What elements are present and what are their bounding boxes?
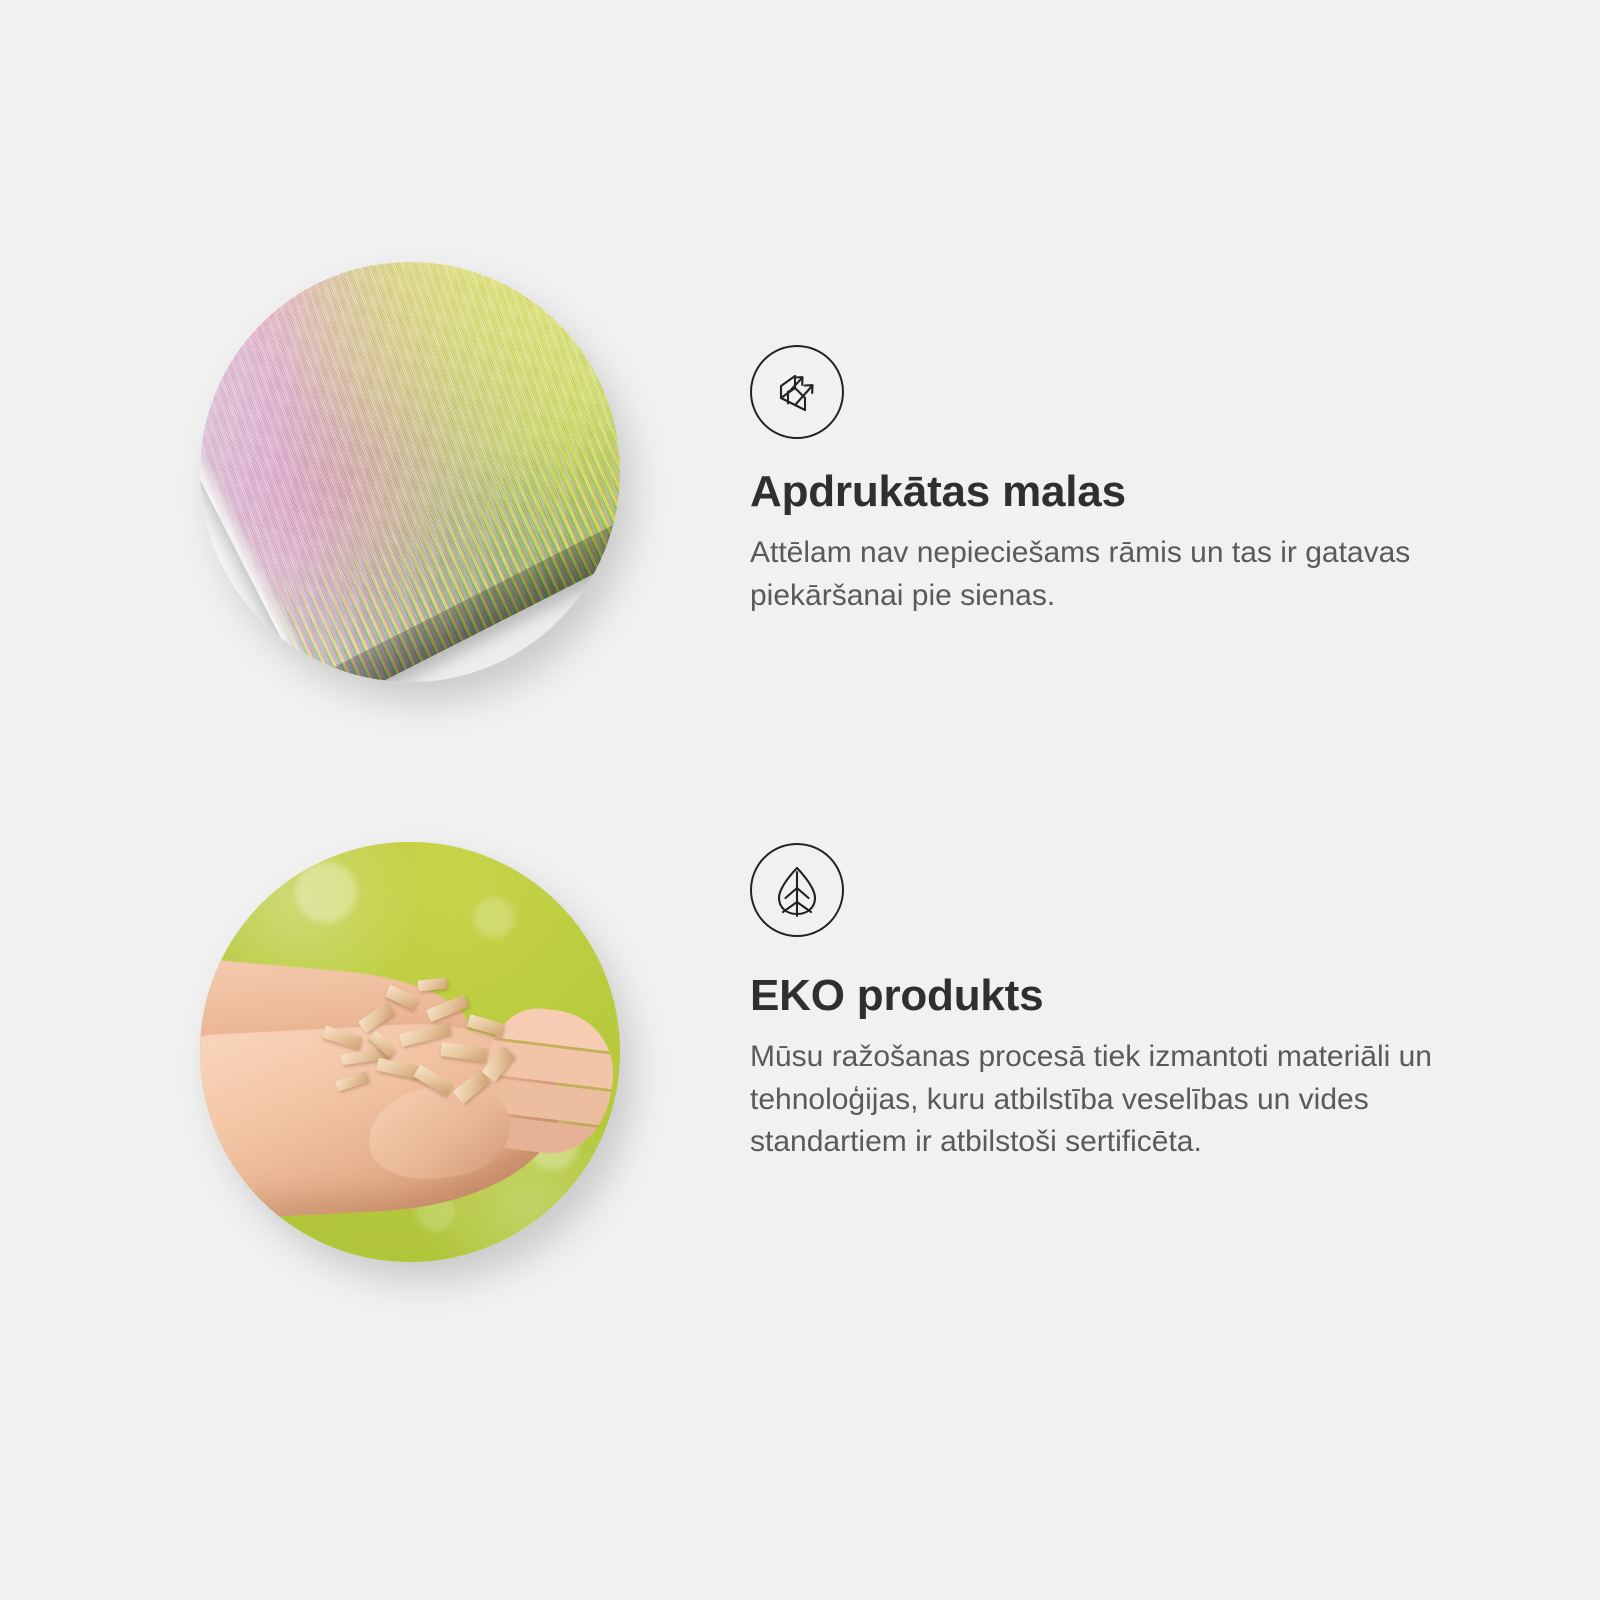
wood-chips-photo-circle xyxy=(200,842,620,1262)
feature-highlights-page: Apdrukātas malas Attēlam nav nepieciešam… xyxy=(0,0,1600,1600)
eco-illustration xyxy=(200,842,620,1262)
wood-chips-in-hands-photo xyxy=(200,842,620,1262)
feature-section-printed-edges: Apdrukātas malas Attēlam nav nepieciešam… xyxy=(0,240,1600,800)
printed-edges-glyph xyxy=(769,364,825,420)
wood-chips-group xyxy=(309,976,536,1119)
printed-edges-icon xyxy=(750,345,844,439)
feature-title: EKO produkts xyxy=(750,972,1043,1020)
canvas-corner-illustration xyxy=(200,262,620,682)
feature-description: Mūsu ražošanas procesā tiek izmantoti ma… xyxy=(750,1036,1450,1164)
feature-section-eco-product: EKO produkts Mūsu ražošanas procesā tiek… xyxy=(0,820,1600,1380)
canvas-corner-photo xyxy=(200,262,620,682)
leaf-icon xyxy=(750,843,844,937)
feature-title: Apdrukātas malas xyxy=(750,468,1126,516)
feature-description: Attēlam nav nepieciešams rāmis un tas ir… xyxy=(750,532,1450,617)
leaf-glyph xyxy=(771,862,823,918)
canvas-corner-photo-circle xyxy=(200,262,620,682)
